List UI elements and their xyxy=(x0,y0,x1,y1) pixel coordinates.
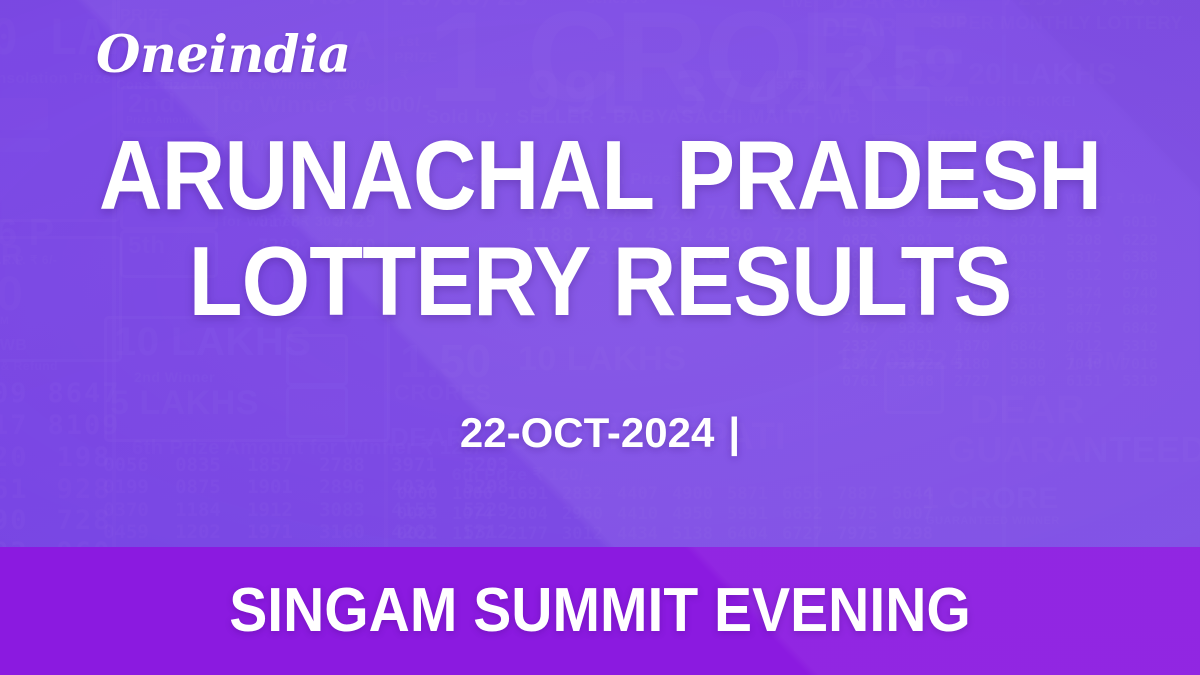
foreground-content: Oneindia ARUNACHAL PRADESH LOTTERY RESUL… xyxy=(0,0,1200,675)
result-date: 22-OCT-2024 xyxy=(460,409,714,456)
page-title-line2: LOTTERY RESULTS xyxy=(60,236,1140,326)
draw-name-banner: SINGAM SUMMIT EVENING xyxy=(0,547,1200,675)
date-separator: | xyxy=(728,409,740,457)
oneindia-logo[interactable]: Oneindia xyxy=(96,30,351,81)
page-title: ARUNACHAL PRADESH LOTTERY RESULTS xyxy=(0,130,1200,326)
page-title-line1: ARUNACHAL PRADESH xyxy=(60,130,1140,220)
draw-name-label: SINGAM SUMMIT EVENING xyxy=(48,547,1152,675)
result-date-row: 22-OCT-2024| xyxy=(0,409,1200,457)
lottery-result-banner: 50 LAKHS Consolation Prize 6 P M.R.P. ₹ … xyxy=(0,0,1200,675)
